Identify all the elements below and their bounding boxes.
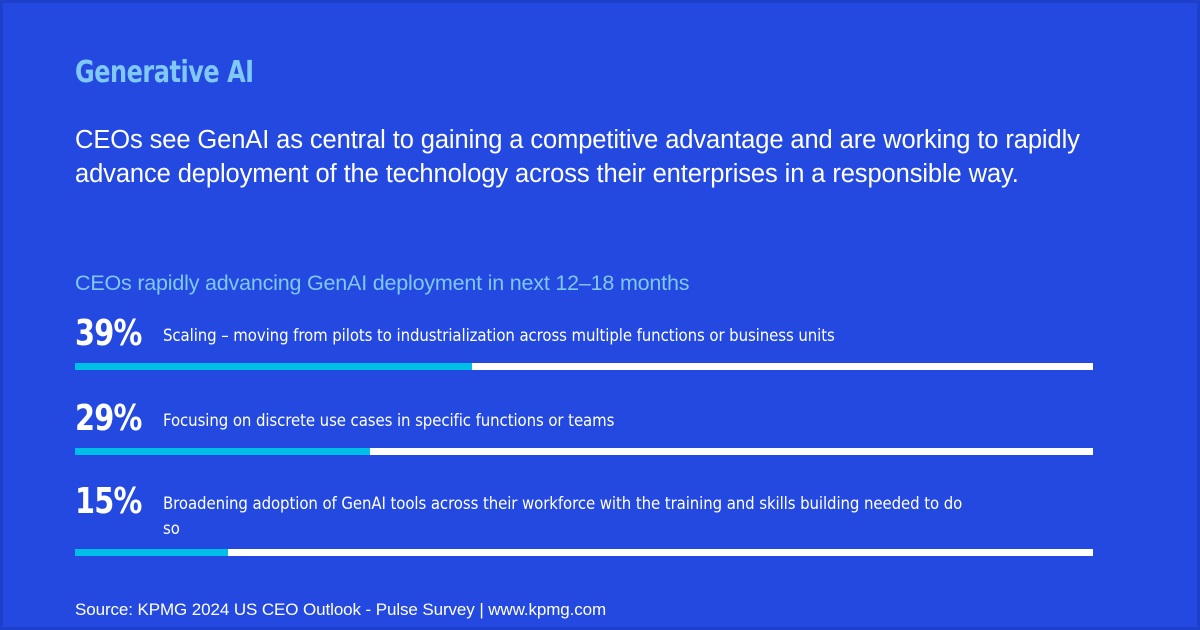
bar-track <box>75 363 1093 370</box>
bar-value-label: 15% <box>75 482 145 522</box>
infographic-card: Generative AI CEOs see GenAI as central … <box>0 0 1200 630</box>
bar-chart: CEOs rapidly advancing GenAI deployment … <box>75 271 1095 556</box>
bar-value-label: 39% <box>75 314 145 354</box>
bar-row: 39% Scaling – moving from pilots to indu… <box>75 314 1093 370</box>
content-container: Generative AI CEOs see GenAI as central … <box>75 3 1095 630</box>
chart-title: CEOs rapidly advancing GenAI deployment … <box>75 271 1095 296</box>
bar-row: 15% Broadening adoption of GenAI tools a… <box>75 482 1093 556</box>
bar-track <box>75 448 1093 455</box>
bar-category-label: Scaling – moving from pilots to industri… <box>163 314 981 349</box>
bar-category-label: Broadening adoption of GenAI tools acros… <box>163 482 981 542</box>
bar-track <box>75 549 1093 556</box>
source-note: Source: KPMG 2024 US CEO Outlook - Pulse… <box>75 600 606 620</box>
bar-fill <box>75 448 370 455</box>
bar-fill <box>75 549 228 556</box>
bar-row: 29% Focusing on discrete use cases in sp… <box>75 399 1093 455</box>
bar-fill <box>75 363 472 370</box>
bar-value-label: 29% <box>75 399 145 439</box>
bar-row-content: 15% Broadening adoption of GenAI tools a… <box>75 482 1093 542</box>
bar-track-background <box>75 549 1093 556</box>
bar-row-content: 39% Scaling – moving from pilots to indu… <box>75 314 1093 356</box>
lead-paragraph: CEOs see GenAI as central to gaining a c… <box>75 123 1097 191</box>
page-title: Generative AI <box>75 55 254 90</box>
bar-category-label: Focusing on discrete use cases in specif… <box>163 399 981 434</box>
bar-row-content: 29% Focusing on discrete use cases in sp… <box>75 399 1093 441</box>
